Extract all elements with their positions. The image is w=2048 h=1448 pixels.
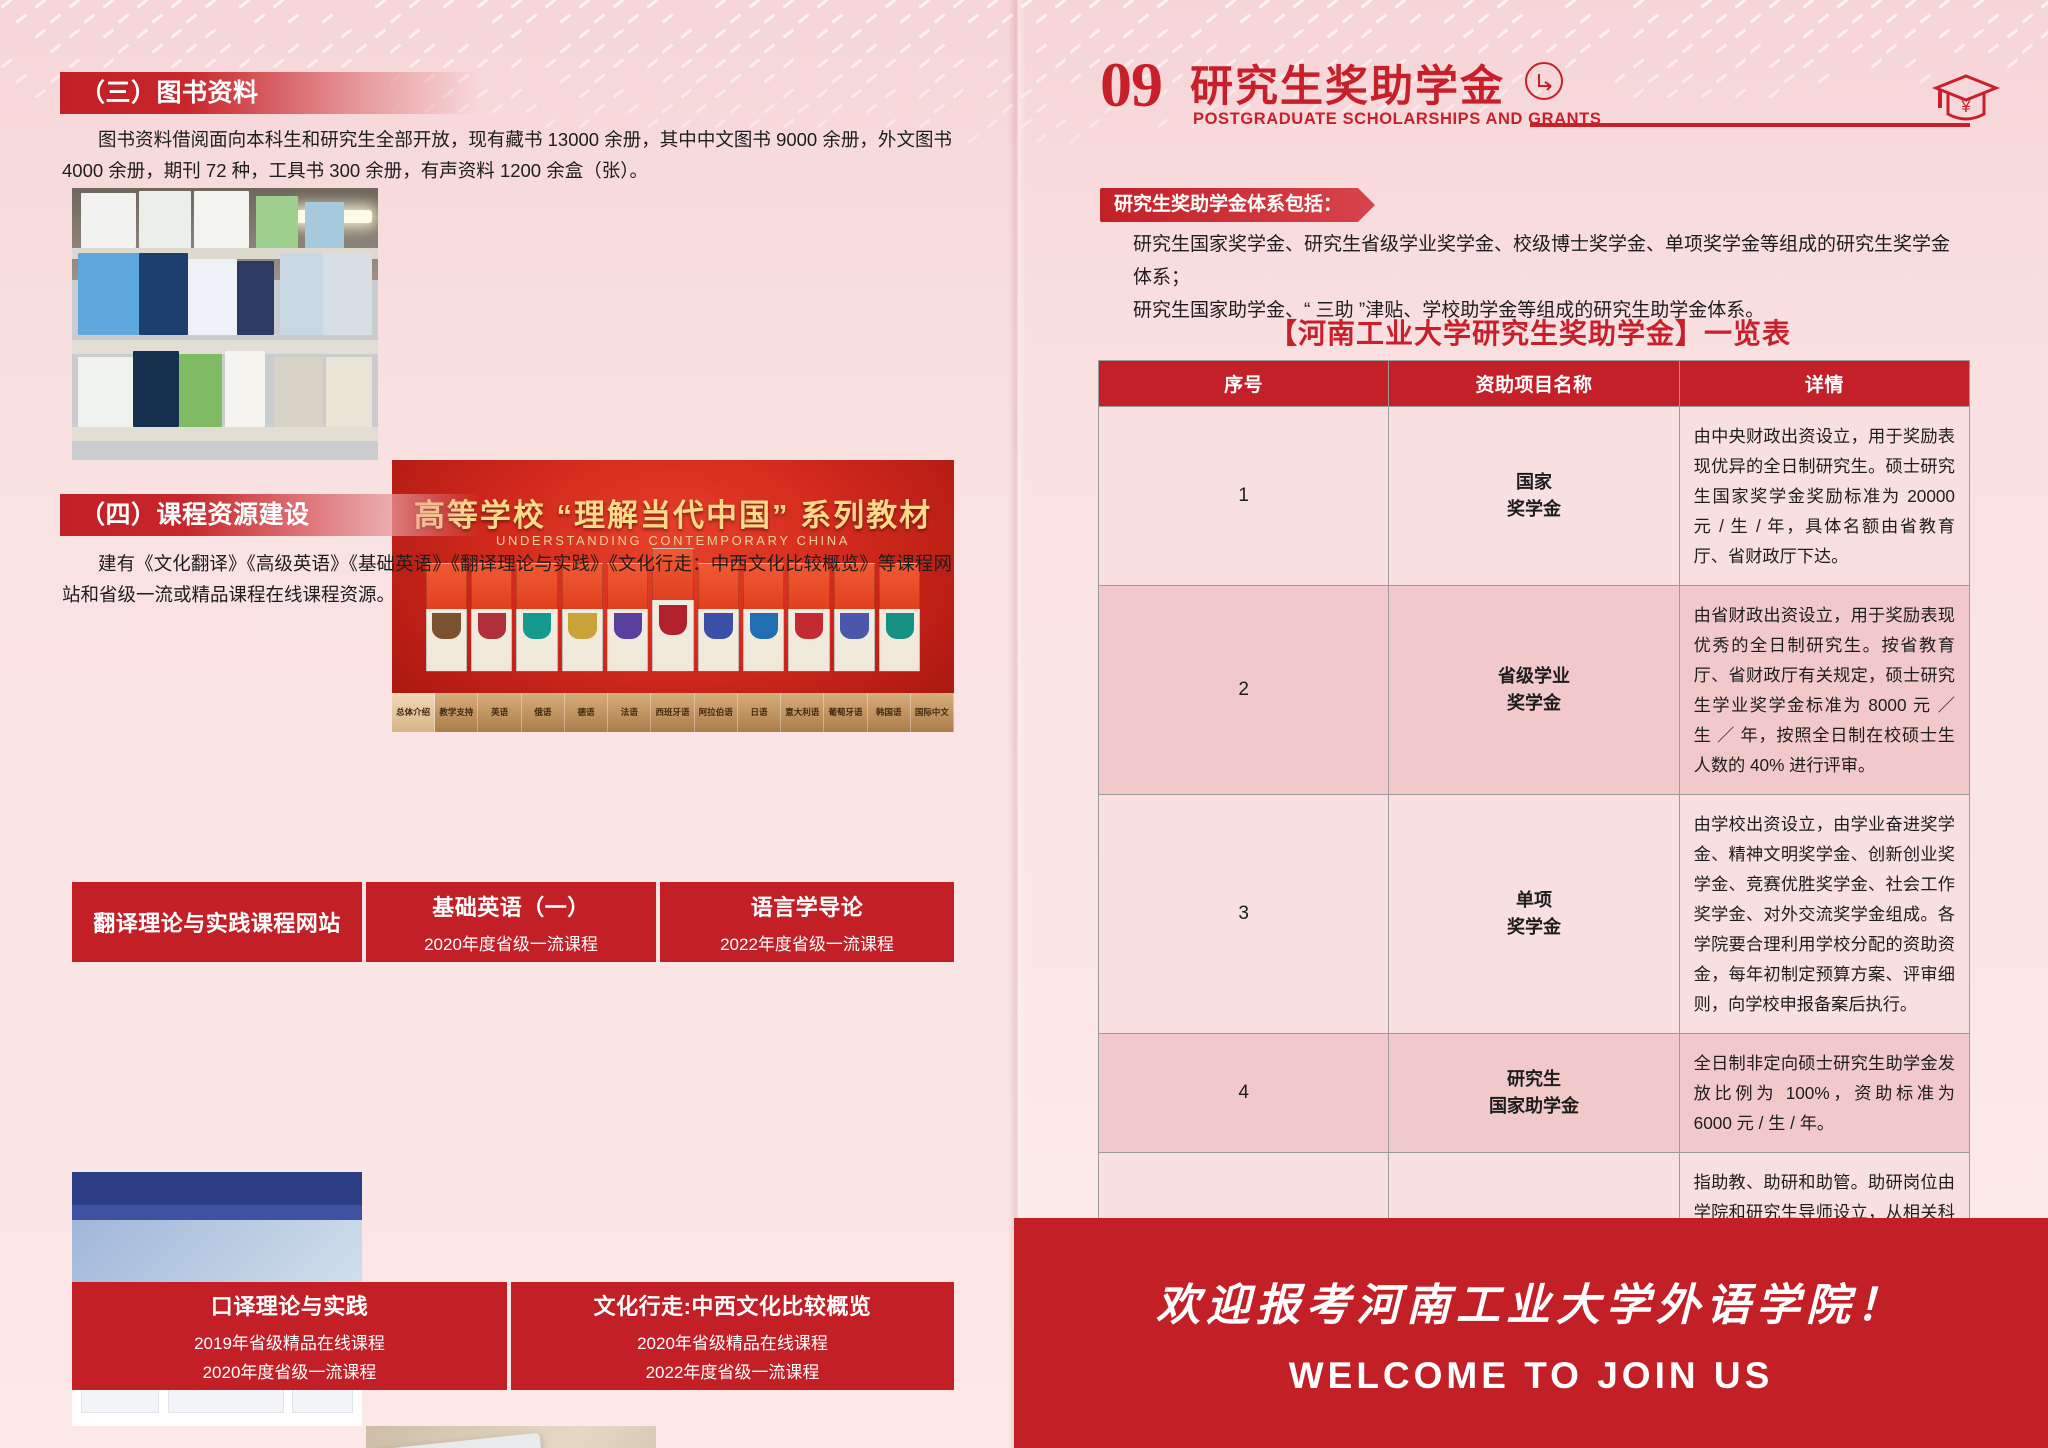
arrow-down-icon — [1525, 62, 1563, 100]
textbook-nav-item-1[interactable]: 教学支持 — [435, 693, 478, 732]
cell-desc: 由省财政出资设立，用于奖励表现优秀的全日制研究生。按省教育厅、省财政厅有关规定，… — [1679, 586, 1969, 795]
cell-name: 省级学业奖学金 — [1389, 586, 1679, 795]
table-row: 2省级学业奖学金由省财政出资设立，用于奖励表现优秀的全日制研究生。按省教育厅、省… — [1099, 586, 1970, 795]
textbook-nav-item-8[interactable]: 日语 — [738, 693, 781, 732]
course-resources-paragraph: 建有《文化翻译》《高级英语》《基础英语》《翻译理论与实践》《文化行走：中西文化比… — [62, 548, 952, 610]
section-number: 09 — [1100, 48, 1162, 122]
cell-name: 国家奖学金 — [1389, 407, 1679, 586]
course-caption-2-title: 基础英语（一） — [432, 890, 590, 922]
textbook-nav-item-6[interactable]: 西班牙语 — [651, 693, 694, 732]
section-title: 研究生奖助学金 — [1190, 52, 1505, 114]
course-caption-3-title: 语言学导论 — [751, 890, 864, 922]
th-no: 序号 — [1099, 361, 1389, 407]
cell-name: 研究生国家助学金 — [1389, 1034, 1679, 1153]
textbook-nav-item-3[interactable]: 俄语 — [522, 693, 565, 732]
library-shelf-photo — [72, 188, 378, 460]
course-caption-2: 基础英语（一） 2020年度省级一流课程 — [366, 882, 656, 962]
cell-name-line1: 国家 — [1389, 469, 1678, 496]
table-title: 【河南工业大学研究生奖助学金】一览表 — [1100, 312, 1960, 352]
notebook-photo: 笔记本 — [366, 1426, 656, 1448]
course-caption-4-title: 口译理论与实践 — [211, 1289, 369, 1321]
welcome-banner-cn: 欢迎报考河南工业大学外语学院！ — [1156, 1269, 1906, 1333]
textbook-nav-item-9[interactable]: 意大利语 — [781, 693, 824, 732]
textbook-nav-item-7[interactable]: 阿拉伯语 — [695, 693, 738, 732]
th-name: 资助项目名称 — [1389, 361, 1679, 407]
textbook-banner-nav[interactable]: 总体介绍教学支持英语俄语德语法语西班牙语阿拉伯语日语意大利语葡萄牙语韩国语国际中… — [392, 693, 954, 732]
course-caption-1-title: 翻译理论与实践课程网站 — [93, 906, 341, 938]
course-caption-4-sub1: 2019年省级精品在线课程 — [194, 1329, 385, 1354]
scholarship-intro-line-1: 研究生国家奖学金、研究生省级学业奖学金、校级博士奖学金、单项奖学金等组成的研究生… — [1133, 228, 1963, 294]
cell-name-line1: 研究生 — [1389, 1066, 1678, 1093]
textbook-nav-item-4[interactable]: 德语 — [565, 693, 608, 732]
graduation-cap-icon: ¥ — [1930, 68, 2002, 130]
cell-no: 3 — [1099, 795, 1389, 1034]
cell-name-line1: 省级学业 — [1389, 663, 1678, 690]
cell-no: 1 — [1099, 407, 1389, 586]
course-resources-paragraph-text: 建有《文化翻译》《高级英语》《基础英语》《翻译理论与实践》《文化行走：中西文化比… — [62, 553, 952, 605]
cell-name-line2: 国家助学金 — [1389, 1093, 1678, 1120]
welcome-banner: 欢迎报考河南工业大学外语学院！ WELCOME TO JOIN US — [1014, 1218, 2048, 1448]
table-header-row: 序号 资助项目名称 详情 — [1099, 361, 1970, 407]
course-caption-3-sub: 2022年度省级一流课程 — [720, 930, 894, 955]
library-paragraph-text: 图书资料借阅面向本科生和研究生全部开放，现有藏书 13000 余册，其中中文图书… — [62, 129, 952, 181]
table-row: 4研究生国家助学金全日制非定向硕士研究生助学金发放比例为 100%，资助标准为 … — [1099, 1034, 1970, 1153]
textbook-nav-item-2[interactable]: 英语 — [478, 693, 521, 732]
textbook-nav-item-5[interactable]: 法语 — [608, 693, 651, 732]
table-row: 1国家奖学金由中央财政出资设立，用于奖励表现优异的全日制研究生。硕士研究生国家奖… — [1099, 407, 1970, 586]
cell-name-line2: 奖学金 — [1389, 496, 1678, 523]
cell-no: 4 — [1099, 1034, 1389, 1153]
table-row: 3单项奖学金由学校出资设立，由学业奋进奖学金、精神文明奖学金、创新创业奖学金、竞… — [1099, 795, 1970, 1034]
cell-name-line1: 单项 — [1389, 887, 1678, 914]
course-caption-4-sub2: 2020年度省级一流课程 — [203, 1358, 377, 1383]
section-heading-course-resources: （四）课程资源建设 — [60, 494, 480, 536]
textbook-nav-item-0[interactable]: 总体介绍 — [392, 693, 435, 732]
library-paragraph: 图书资料借阅面向本科生和研究生全部开放，现有藏书 13000 余册，其中中文图书… — [62, 124, 952, 186]
course-caption-5-sub1: 2020年省级精品在线课程 — [637, 1329, 828, 1354]
textbook-nav-item-11[interactable]: 韩国语 — [868, 693, 911, 732]
cell-desc: 由中央财政出资设立，用于奖励表现优异的全日制研究生。硕士研究生国家奖学金奖励标准… — [1679, 407, 1969, 586]
cell-name: 单项奖学金 — [1389, 795, 1679, 1034]
cell-name-line2: 奖学金 — [1389, 914, 1678, 941]
course-caption-5: 文化行走:中西文化比较概览 2020年省级精品在线课程 2022年度省级一流课程 — [511, 1282, 954, 1390]
course-caption-1: 翻译理论与实践课程网站 — [72, 882, 362, 962]
cell-no: 2 — [1099, 586, 1389, 795]
cell-name-line2: 奖学金 — [1389, 690, 1678, 717]
course-caption-4: 口译理论与实践 2019年省级精品在线课程 2020年度省级一流课程 — [72, 1282, 507, 1390]
course-caption-2-sub: 2020年度省级一流课程 — [424, 930, 598, 955]
svg-text:¥: ¥ — [1960, 97, 1971, 116]
cell-desc: 全日制非定向硕士研究生助学金发放比例为 100%，资助标准为 6000 元 / … — [1679, 1034, 1969, 1153]
section-heading-library: （三）图书资料 — [60, 72, 480, 114]
textbook-nav-item-10[interactable]: 葡萄牙语 — [824, 693, 867, 732]
cell-desc: 由学校出资设立，由学业奋进奖学金、精神文明奖学金、创新创业奖学金、竞赛优胜奖学金… — [1679, 795, 1969, 1034]
scholarship-system-tag: 研究生奖助学金体系包括： — [1100, 188, 1358, 222]
welcome-banner-en: WELCOME TO JOIN US — [1289, 1355, 1774, 1397]
course-caption-5-title: 文化行走:中西文化比较概览 — [594, 1289, 872, 1321]
course-caption-3: 语言学导论 2022年度省级一流课程 — [660, 882, 954, 962]
th-desc: 详情 — [1679, 361, 1969, 407]
textbook-nav-item-12[interactable]: 国际中文 — [911, 693, 954, 732]
header-rule — [1530, 123, 1970, 127]
brochure-page: （三）图书资料 图书资料借阅面向本科生和研究生全部开放，现有藏书 13000 余… — [0, 0, 2048, 1448]
course-caption-5-sub2: 2022年度省级一流课程 — [646, 1358, 820, 1383]
